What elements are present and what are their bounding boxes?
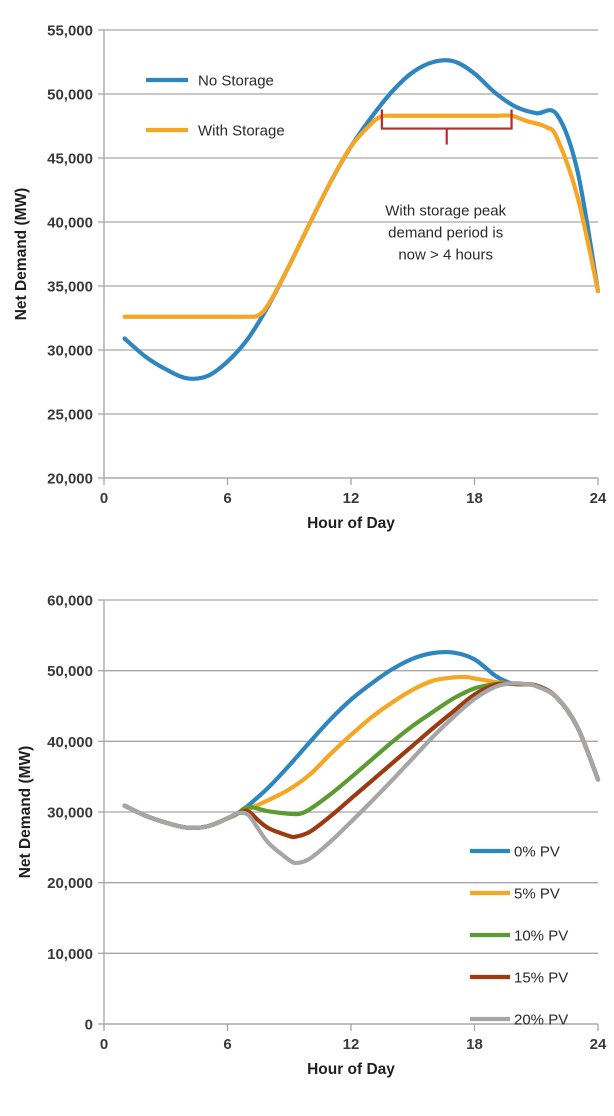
gridlines: [104, 30, 598, 478]
figure-page: 20,00025,00030,00035,00040,00045,00050,0…: [0, 0, 614, 1116]
x-tick-labels: 06121824: [100, 1036, 607, 1053]
annotation-line-0: With storage peak: [385, 203, 506, 220]
y-tick-label-2: 20,000: [47, 875, 93, 892]
x-axis-title: Hour of Day: [307, 1061, 395, 1078]
legend-label-3: 15% PV: [514, 970, 568, 987]
x-tick-label-2: 12: [343, 1036, 360, 1053]
y-tick-label-6: 50,000: [47, 87, 93, 104]
legend: 0% PV5% PV10% PV15% PV20% PV: [470, 844, 568, 1029]
y-tick-label-6: 60,000: [47, 593, 93, 610]
chart-no-storage-vs-with-storage: 20,00025,00030,00035,00040,00045,00050,0…: [0, 0, 614, 560]
x-tick-label-3: 18: [466, 1036, 483, 1053]
annotation-text: With storage peakdemand period isnow > 4…: [385, 203, 506, 264]
chart-canvas-top: 20,00025,00030,00035,00040,00045,00050,0…: [0, 0, 614, 560]
series-group: [125, 652, 598, 863]
y-tick-labels: 010,00020,00030,00040,00050,00060,000: [47, 593, 93, 1034]
series-line-0-pv: [125, 652, 598, 828]
legend-label-0: No Storage: [198, 73, 274, 90]
axes: [98, 600, 598, 1031]
x-axis-title: Hour of Day: [307, 515, 395, 532]
y-axis-title: Net Demand (MW): [17, 746, 34, 879]
x-tick-label-1: 6: [223, 490, 231, 507]
y-tick-labels: 20,00025,00030,00035,00040,00045,00050,0…: [47, 23, 93, 488]
x-tick-label-0: 0: [100, 490, 108, 507]
x-tick-label-0: 0: [100, 1036, 108, 1053]
legend-label-1: With Storage: [198, 123, 285, 140]
y-tick-label-1: 25,000: [47, 407, 93, 424]
series-group: [125, 60, 598, 379]
legend: No StorageWith Storage: [146, 73, 285, 140]
series-line-10-pv: [125, 684, 598, 828]
x-tick-label-4: 24: [590, 490, 607, 507]
chart-pv-penetration-net-demand: 010,00020,00030,00040,00050,00060,000061…: [0, 560, 614, 1116]
series-line-5-pv: [125, 677, 598, 828]
axes: [98, 30, 598, 485]
y-tick-label-0: 20,000: [47, 471, 93, 488]
y-tick-label-3: 35,000: [47, 279, 93, 296]
series-line-20-pv: [125, 683, 598, 863]
y-tick-label-5: 50,000: [47, 663, 93, 680]
annotation-line-2: now > 4 hours: [398, 247, 493, 264]
series-line-no-storage: [125, 60, 598, 379]
x-tick-label-1: 6: [223, 1036, 231, 1053]
y-tick-label-0: 0: [85, 1017, 93, 1034]
y-tick-label-7: 55,000: [47, 23, 93, 40]
legend-label-4: 20% PV: [514, 1012, 568, 1029]
y-tick-label-2: 30,000: [47, 343, 93, 360]
x-tick-label-4: 24: [590, 1036, 607, 1053]
legend-label-1: 5% PV: [514, 886, 560, 903]
y-tick-label-3: 30,000: [47, 805, 93, 822]
gridlines: [104, 600, 598, 1024]
x-tick-label-2: 12: [343, 490, 360, 507]
annotation-line-1: demand period is: [388, 225, 503, 242]
y-tick-label-5: 45,000: [47, 151, 93, 168]
y-tick-label-1: 10,000: [47, 946, 93, 963]
y-tick-label-4: 40,000: [47, 734, 93, 751]
x-tick-label-3: 18: [466, 490, 483, 507]
legend-label-2: 10% PV: [514, 928, 568, 945]
y-axis-title: Net Demand (MW): [13, 188, 30, 321]
chart-canvas-bottom: 010,00020,00030,00040,00050,00060,000061…: [0, 560, 614, 1116]
legend-label-0: 0% PV: [514, 844, 560, 861]
y-tick-label-4: 40,000: [47, 215, 93, 232]
x-tick-labels: 06121824: [100, 490, 607, 507]
peak-period-bracket: [382, 110, 512, 129]
